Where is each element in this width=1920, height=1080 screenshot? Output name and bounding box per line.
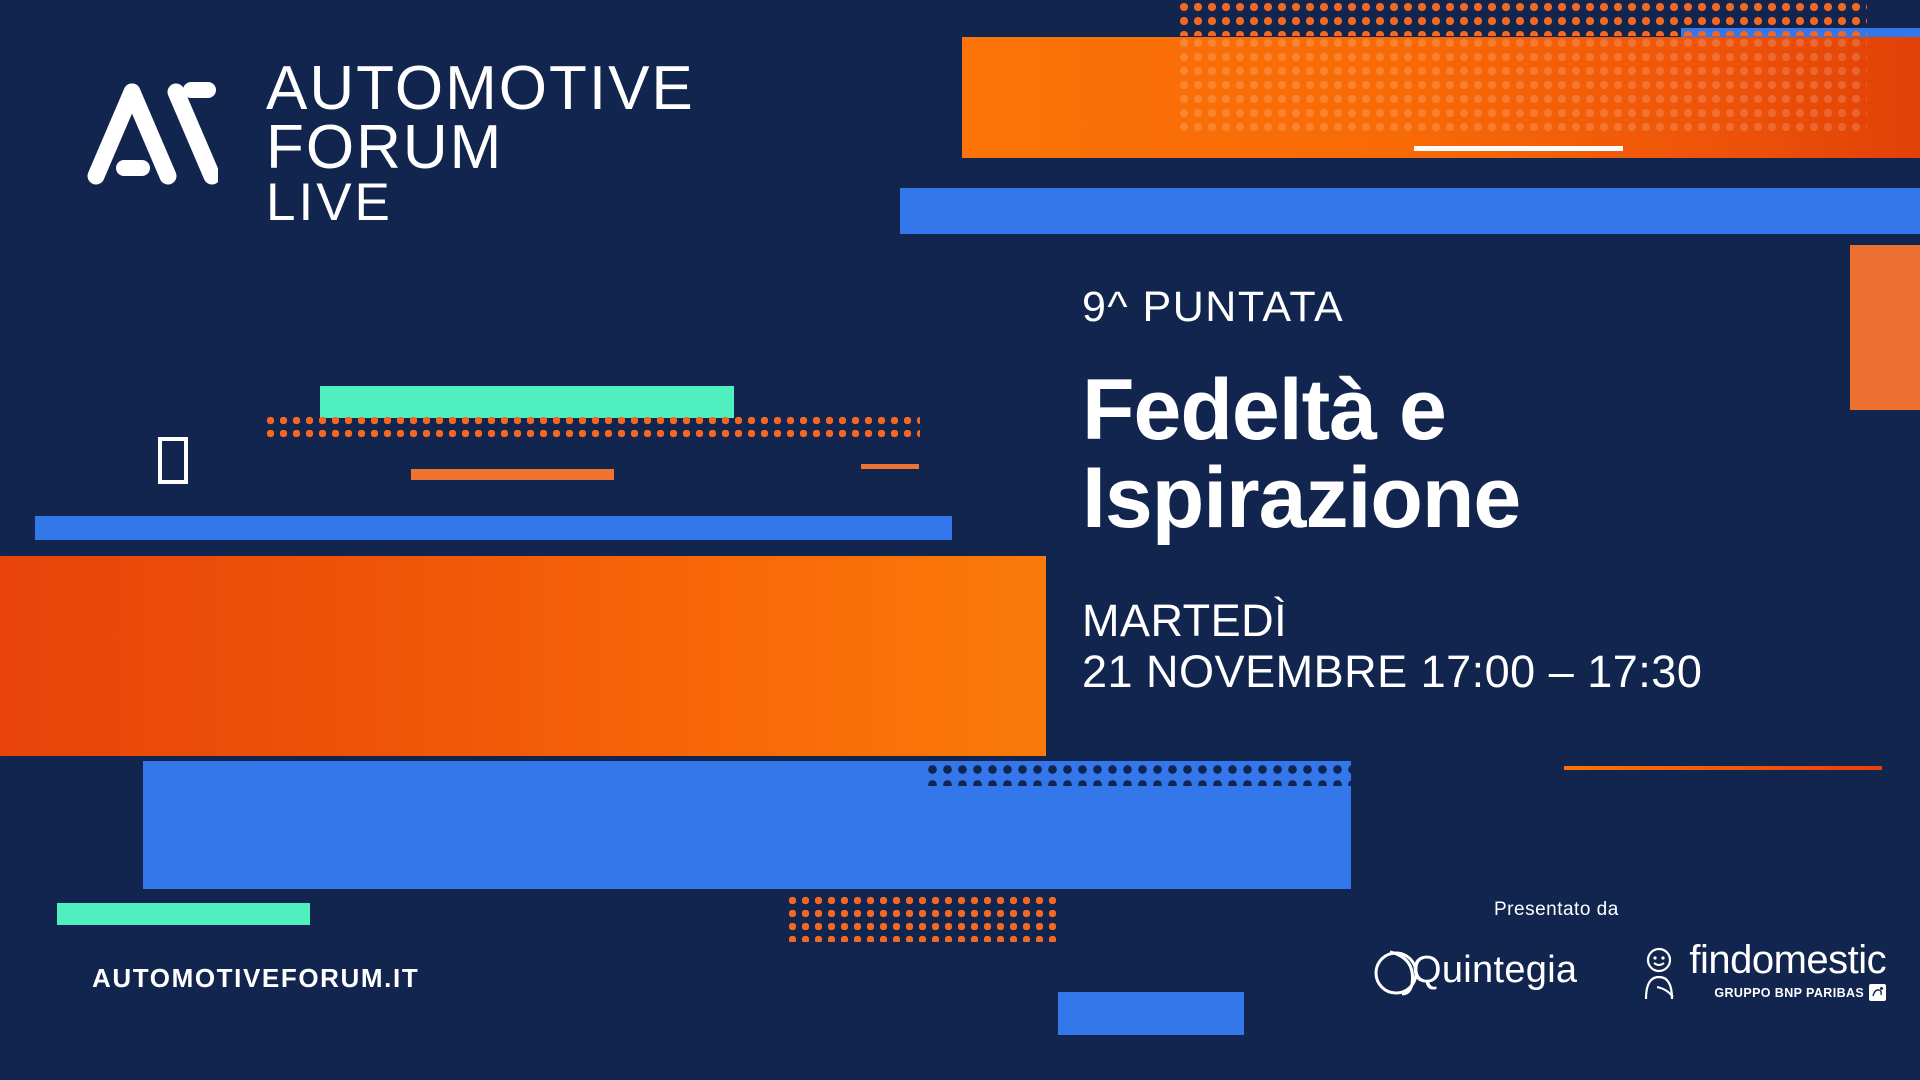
deco-dot-rows-left bbox=[264, 414, 920, 440]
event-date-time: 21 NOVEMBRE 17:00 – 17:30 bbox=[1082, 647, 1882, 697]
event-title-line1: Fedeltà e bbox=[1082, 367, 1882, 455]
deco-dot-grid-top-over-orange bbox=[1177, 36, 1867, 136]
brand-name-line1: AUTOMOTIVE bbox=[266, 60, 695, 119]
poster-canvas: AUTOMOTIVE FORUM LIVE 9^ PUNTATA Fedeltà… bbox=[0, 0, 1920, 1080]
deco-dot-cluster-navy bbox=[1357, 762, 1395, 810]
findomestic-person-icon bbox=[1637, 947, 1683, 1001]
event-title: Fedeltà e Ispirazione bbox=[1082, 367, 1882, 542]
sponsor-findomestic-subtitle-row: GRUPPO BNP PARIBAS bbox=[1714, 984, 1886, 1001]
deco-blue-band-upper bbox=[900, 188, 1920, 234]
sponsor-quintegia-name: Quintegia bbox=[1412, 949, 1577, 992]
site-url[interactable]: AUTOMOTIVEFORUM.IT bbox=[92, 963, 419, 994]
deco-dot-row-navy bbox=[925, 762, 1381, 786]
brand-name-line2: FORUM bbox=[266, 119, 695, 178]
deco-blue-block-small-bottom bbox=[1058, 992, 1244, 1035]
brand-logo: AUTOMOTIVE FORUM LIVE bbox=[80, 60, 695, 228]
brand-name-line3: LIVE bbox=[266, 178, 695, 228]
deco-dot-grid-top bbox=[1177, 0, 1867, 36]
deco-orange-bar-mid bbox=[411, 469, 614, 480]
deco-blue-bar-left bbox=[35, 516, 952, 540]
deco-dot-cluster-orange-lower bbox=[786, 894, 1061, 942]
episode-label: 9^ PUNTATA bbox=[1082, 286, 1882, 329]
event-datetime: MARTEDÌ 21 NOVEMBRE 17:00 – 17:30 bbox=[1082, 596, 1882, 697]
sponsor-quintegia[interactable]: Quintegia bbox=[1370, 942, 1577, 1000]
deco-white-line-top bbox=[1414, 146, 1623, 151]
presented-by-label: Presentato da bbox=[1494, 899, 1619, 921]
event-day: MARTEDÌ bbox=[1082, 596, 1882, 646]
sponsor-findomestic[interactable]: findomestic GRUPPO BNP PARIBAS bbox=[1637, 940, 1886, 1001]
deco-orange-block-large bbox=[0, 556, 1046, 756]
event-info: 9^ PUNTATA Fedeltà e Ispirazione MARTEDÌ… bbox=[1082, 286, 1882, 697]
event-title-line2: Ispirazione bbox=[1082, 455, 1882, 543]
sponsor-logos: Quintegia findomestic GRUPPO BNP PARIBAS bbox=[1370, 940, 1886, 1001]
sponsor-findomestic-subtitle: GRUPPO BNP PARIBAS bbox=[1714, 986, 1864, 1000]
sponsor-findomestic-name: findomestic bbox=[1689, 940, 1886, 980]
deco-orange-underline-right bbox=[1564, 766, 1882, 770]
bnp-paribas-icon bbox=[1869, 984, 1886, 1001]
automotive-forum-a-mark-icon bbox=[80, 68, 218, 188]
deco-orange-line-small bbox=[861, 464, 919, 469]
deco-white-outline-box bbox=[158, 437, 188, 484]
deco-mint-bar-lower bbox=[57, 903, 310, 925]
